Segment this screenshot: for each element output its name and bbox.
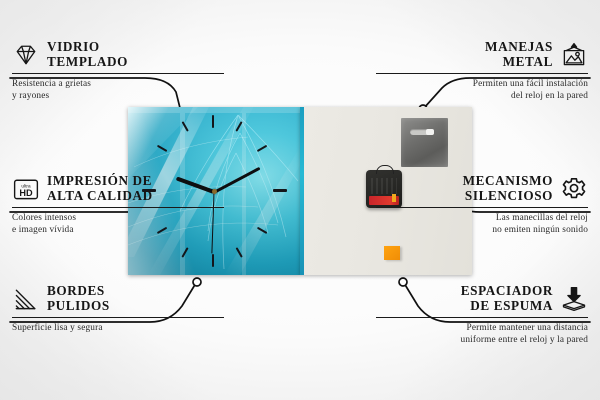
divider (376, 207, 588, 209)
feature-title: MECANISMO SILENCIOSO (463, 174, 553, 204)
divider (12, 317, 224, 319)
divider (376, 73, 588, 75)
diamond-icon (12, 41, 40, 69)
feature-manejas-metal: MANEJAS METAL Permiten una fácil instala… (376, 40, 588, 102)
feature-mecanismo-silencioso: MECANISMO SILENCIOSO Las manecillas del … (376, 174, 588, 236)
divider (12, 207, 224, 209)
feature-subtitle: Permiten una fácil instalación del reloj… (376, 78, 588, 103)
feature-title: IMPRESIÓN DE ALTA CALIDAD (47, 174, 153, 204)
feature-impresion-alta-calidad: ultra HD IMPRESIÓN DE ALTA CALIDAD Color… (12, 174, 224, 236)
svg-text:HD: HD (19, 188, 33, 198)
clock-marker (273, 189, 287, 192)
metal-hanger-plate (401, 118, 448, 167)
foam-spacer (384, 246, 400, 260)
divider (376, 317, 588, 319)
ultra-hd-icon: ultra HD (12, 175, 40, 203)
feature-subtitle: Superficie lisa y segura (12, 322, 224, 334)
clock-marker (212, 115, 214, 128)
clock-marker (212, 254, 214, 267)
divider (12, 73, 224, 75)
feature-title: BORDES PULIDOS (47, 284, 110, 314)
polished-edges-icon (12, 285, 40, 313)
feature-title: VIDRIO TEMPLADO (47, 40, 128, 70)
hanger-slot (410, 129, 434, 135)
feature-subtitle: Colores intensos e imagen vívida (12, 212, 224, 237)
feature-title: ESPACIADOR DE ESPUMA (461, 284, 553, 314)
feature-subtitle: Las manecillas del reloj no emiten ningú… (376, 212, 588, 237)
gear-icon (560, 175, 588, 203)
mechanism-hook (376, 165, 394, 174)
feature-vidrio-templado: VIDRIO TEMPLADO Resistencia a grietas y … (12, 40, 224, 102)
feature-espaciador-espuma: ESPACIADOR DE ESPUMA Permite mantener un… (376, 284, 588, 346)
feature-subtitle: Permite mantener una distancia uniforme … (376, 322, 588, 347)
infographic-canvas: VIDRIO TEMPLADO Resistencia a grietas y … (0, 0, 600, 400)
wall-hanging-frame-icon (560, 41, 588, 69)
feature-bordes-pulidos: BORDES PULIDOS Superficie lisa y segura (12, 284, 224, 334)
feature-subtitle: Resistencia a grietas y rayones (12, 78, 224, 103)
feature-title: MANEJAS METAL (485, 40, 553, 70)
foam-spacer-arrow-icon (560, 285, 588, 313)
panel-edge (300, 107, 304, 275)
